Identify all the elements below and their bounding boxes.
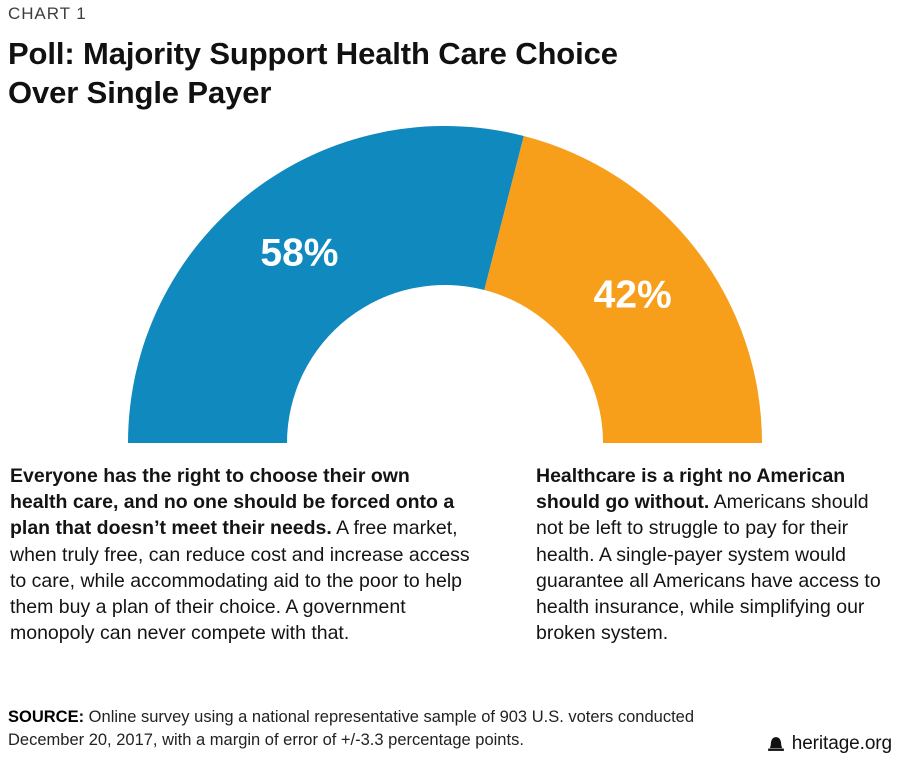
page-title: Poll: Majority Support Health Care Choic… — [8, 34, 788, 112]
chart-eyebrow-label: CHART 1 — [8, 4, 87, 24]
brand-logo[interactable]: heritage.org — [767, 733, 892, 755]
source-text: Online survey using a national represent… — [8, 708, 694, 749]
slice-value-label-blue: 58% — [260, 232, 338, 275]
source-note: SOURCE: Online survey using a national r… — [8, 706, 728, 753]
liberty-bell-icon — [767, 735, 785, 754]
source-label: SOURCE: — [8, 708, 84, 726]
page-title-line-2: Over Single Payer — [8, 73, 788, 112]
donut-slice-blue[interactable] — [128, 126, 524, 443]
legend-column-orange-body: Americans should not be left to struggle… — [536, 491, 881, 644]
chart-page: CHART 1 Poll: Majority Support Health Ca… — [0, 0, 900, 766]
donut-svg: 58% 42% — [110, 118, 790, 458]
legend-column-orange: Healthcare is a right no American should… — [536, 463, 896, 647]
brand-text: heritage.org — [792, 733, 892, 755]
slice-value-label-orange: 42% — [594, 274, 672, 317]
legend-columns: Everyone has the right to choose their o… — [0, 463, 900, 683]
legend-column-blue: Everyone has the right to choose their o… — [10, 463, 472, 647]
semicircle-donut-chart: 58% 42% — [110, 118, 790, 458]
page-title-line-1: Poll: Majority Support Health Care Choic… — [8, 34, 788, 73]
